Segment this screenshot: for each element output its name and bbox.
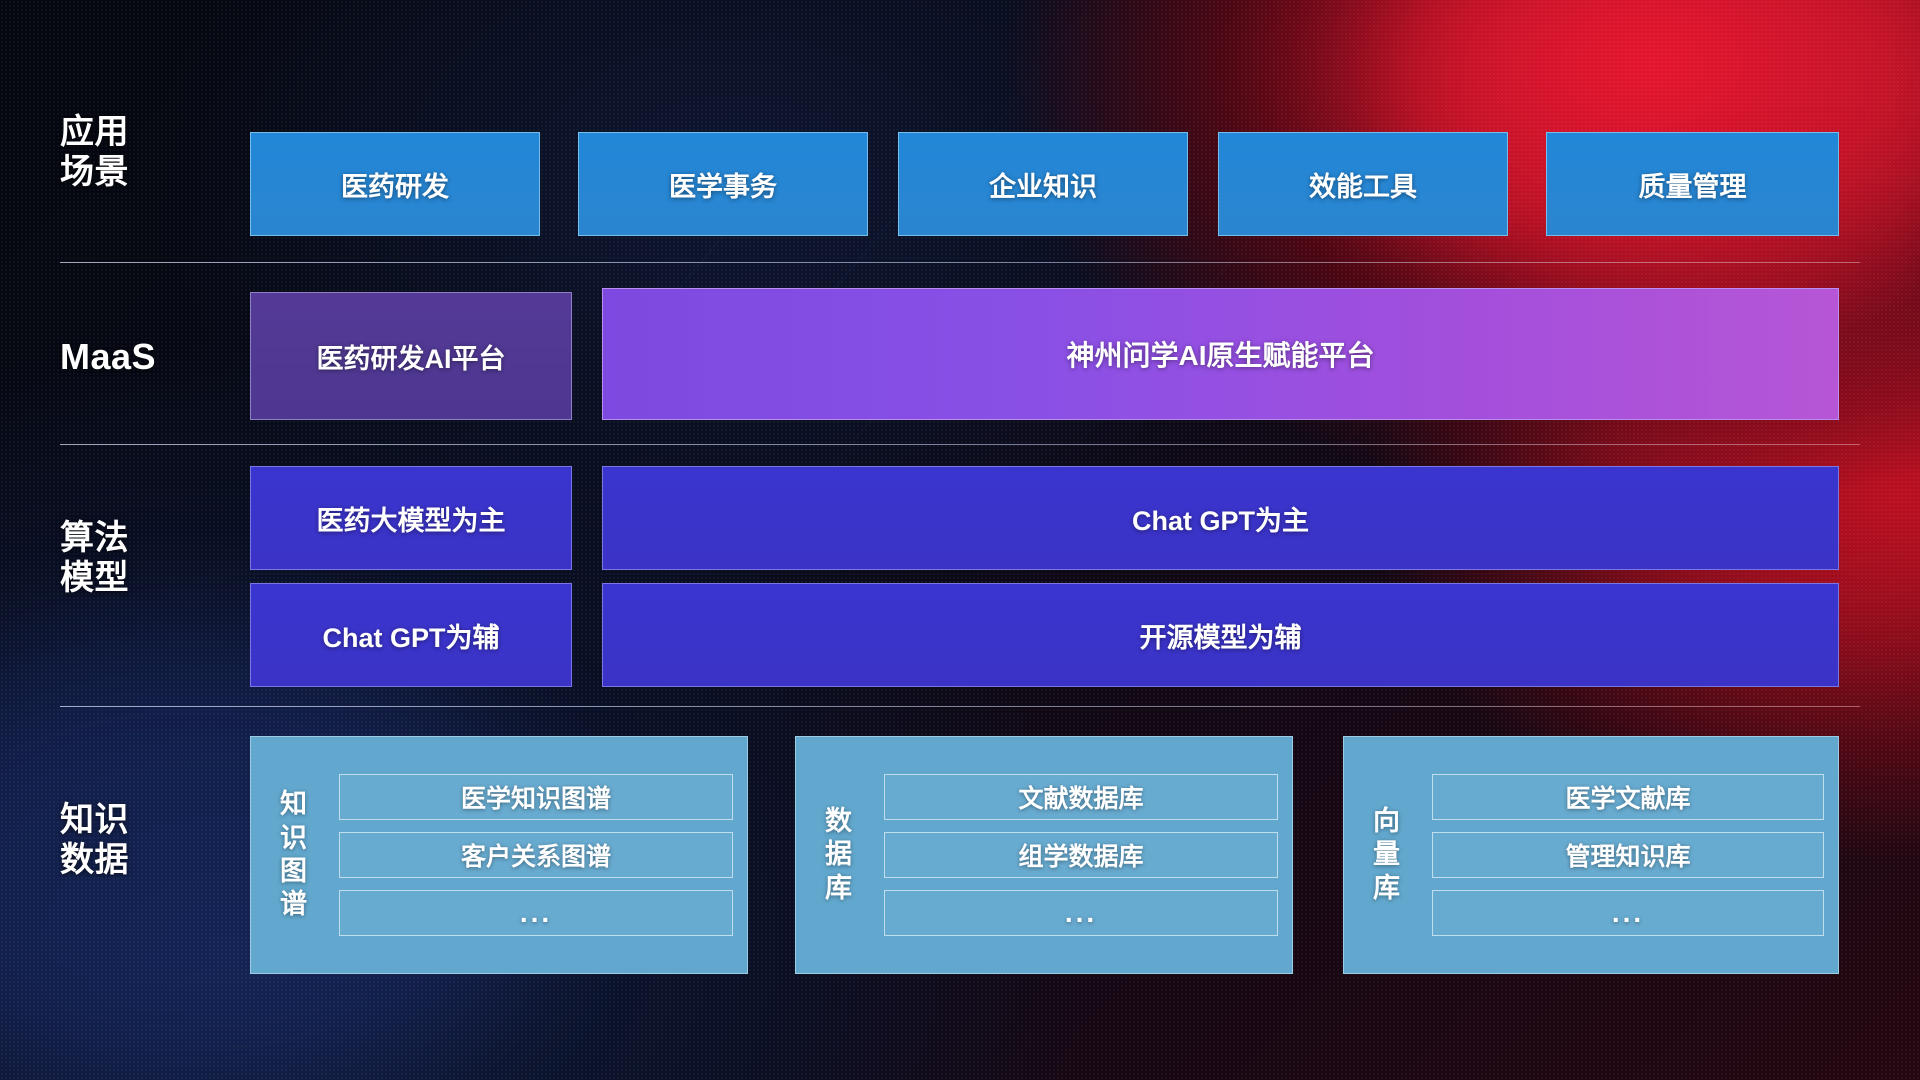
- row-label-application-line-0: 应用: [60, 112, 230, 152]
- knowledge-panel-items-1: 文献数据库组学数据库...: [884, 774, 1278, 936]
- row-label-application: 应用场景: [60, 112, 230, 192]
- row-label-maas-line-0: MaaS: [60, 336, 230, 378]
- knowledge-item[interactable]: 组学数据库: [884, 832, 1278, 878]
- knowledge-item[interactable]: 医学知识图谱: [339, 774, 733, 820]
- knowledge-item[interactable]: ...: [1432, 890, 1824, 936]
- knowledge-panel-1[interactable]: 数据库文献数据库组学数据库...: [795, 736, 1293, 974]
- algorithm-right-label: 开源模型为辅: [1140, 616, 1302, 655]
- knowledge-item[interactable]: ...: [339, 890, 733, 936]
- maas-main-box[interactable]: 神州问学AI原生赋能平台: [602, 288, 1839, 420]
- row-label-algorithm-line-0: 算法: [60, 518, 230, 558]
- knowledge-panel-label-char: 图: [263, 855, 325, 888]
- knowledge-item[interactable]: 文献数据库: [884, 774, 1278, 820]
- knowledge-panel-items-2: 医学文献库管理知识库...: [1432, 774, 1824, 936]
- knowledge-panel-label-1: 数据库: [808, 805, 870, 905]
- row-label-knowledge-line-0: 知识: [60, 800, 230, 840]
- knowledge-panel-label-char: 库: [808, 872, 870, 905]
- knowledge-panel-label-char: 据: [808, 838, 870, 871]
- knowledge-panel-label-char: 数: [808, 805, 870, 838]
- algorithm-left-label: 医药大模型为主: [317, 499, 506, 538]
- row-label-application-line-1: 场景: [60, 152, 230, 192]
- maas-left-box[interactable]: 医药研发AI平台: [250, 292, 572, 420]
- algorithm-right-label: Chat GPT为主: [1132, 499, 1309, 538]
- maas-left-label: 医药研发AI平台: [317, 337, 506, 376]
- row-label-algorithm-line-1: 模型: [60, 558, 230, 598]
- architecture-diagram: 应用场景 医药研发医学事务企业知识效能工具质量管理 MaaS 医药研发AI平台 …: [0, 0, 1920, 1080]
- algorithm-left-label: Chat GPT为辅: [322, 616, 499, 655]
- algorithm-left-box-0[interactable]: 医药大模型为主: [250, 466, 572, 570]
- algorithm-right-box-0[interactable]: Chat GPT为主: [602, 466, 1839, 570]
- knowledge-panel-label-char: 向: [1356, 805, 1418, 838]
- application-box-label: 医学事务: [669, 165, 777, 204]
- application-box-0[interactable]: 医药研发: [250, 132, 540, 236]
- knowledge-panel-label-char: 量: [1356, 838, 1418, 871]
- row-label-knowledge-line-1: 数据: [60, 840, 230, 880]
- divider-maas-algorithm: [60, 444, 1860, 445]
- row-label-knowledge: 知识数据: [60, 800, 230, 880]
- application-box-label: 企业知识: [989, 165, 1097, 204]
- application-box-2[interactable]: 企业知识: [898, 132, 1188, 236]
- application-box-label: 质量管理: [1639, 165, 1747, 204]
- application-box-label: 效能工具: [1309, 165, 1417, 204]
- knowledge-item[interactable]: ...: [884, 890, 1278, 936]
- knowledge-panel-label-2: 向量库: [1356, 805, 1418, 905]
- knowledge-panel-2[interactable]: 向量库医学文献库管理知识库...: [1343, 736, 1839, 974]
- application-box-1[interactable]: 医学事务: [578, 132, 868, 236]
- knowledge-item[interactable]: 管理知识库: [1432, 832, 1824, 878]
- knowledge-panel-label-0: 知识图谱: [263, 788, 325, 922]
- knowledge-item[interactable]: 客户关系图谱: [339, 832, 733, 878]
- row-label-algorithm: 算法模型: [60, 518, 230, 598]
- maas-main-label: 神州问学AI原生赋能平台: [1066, 334, 1374, 374]
- knowledge-panel-0[interactable]: 知识图谱医学知识图谱客户关系图谱...: [250, 736, 748, 974]
- algorithm-left-box-1[interactable]: Chat GPT为辅: [250, 583, 572, 687]
- divider-application-maas: [60, 262, 1860, 263]
- knowledge-panel-label-char: 库: [1356, 872, 1418, 905]
- application-box-label: 医药研发: [341, 165, 449, 204]
- knowledge-item[interactable]: 医学文献库: [1432, 774, 1824, 820]
- divider-algorithm-knowledge: [60, 706, 1860, 707]
- knowledge-panel-label-char: 识: [263, 822, 325, 855]
- algorithm-right-box-1[interactable]: 开源模型为辅: [602, 583, 1839, 687]
- application-box-4[interactable]: 质量管理: [1546, 132, 1839, 236]
- row-label-maas: MaaS: [60, 336, 230, 378]
- application-box-3[interactable]: 效能工具: [1218, 132, 1508, 236]
- knowledge-panel-items-0: 医学知识图谱客户关系图谱...: [339, 774, 733, 936]
- knowledge-panel-label-char: 知: [263, 788, 325, 821]
- knowledge-panel-label-char: 谱: [263, 888, 325, 921]
